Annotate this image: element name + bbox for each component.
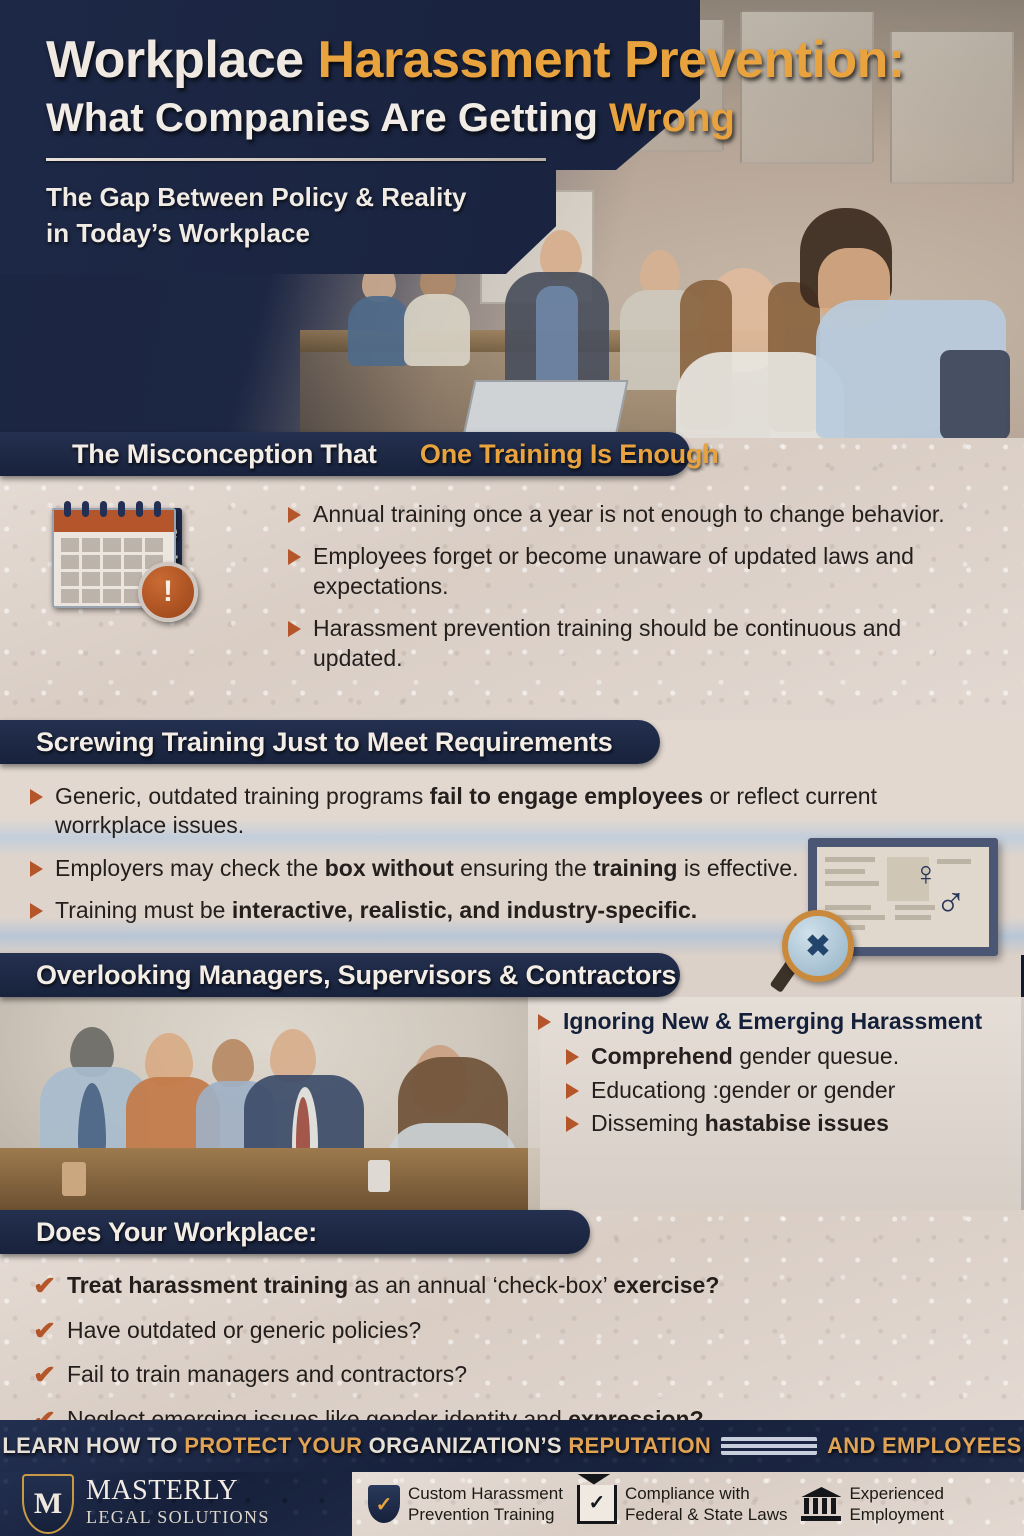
courthouse-icon (801, 1487, 841, 1521)
badge-line1: Compliance with (625, 1483, 788, 1504)
section2-heading-ribbon: Screwing Training Just to Meet Requireme… (0, 720, 660, 764)
monogram-letter: M (34, 1487, 62, 1521)
arrow-bullet-icon (30, 861, 43, 877)
title2-part-amber: Wrong (609, 96, 735, 140)
list-item: Annual training once a year is not enoug… (288, 500, 978, 529)
hero-subtitle-line2: in Today’s Workplace (46, 218, 310, 249)
bullet-text: Comprehend gender quesue. (591, 1042, 899, 1071)
section3-heading: Overlooking Managers, Supervisors & Cont… (0, 960, 676, 991)
cta-seg2: PROTECT YOUR (184, 1433, 368, 1458)
cta-text: LEARN HOW TO PROTECT YOUR ORGANIZATION’S… (2, 1433, 711, 1459)
bullet-text: Disseming hastabise issues (591, 1109, 889, 1138)
check-icon: ✔ (33, 1274, 56, 1299)
meeting-photo (0, 997, 540, 1210)
section-does-your-workplace: Does Your Workplace: ✔ Treat harassment … (0, 1210, 1024, 1420)
list-item: Ignoring New & Emerging Harassment (538, 1007, 1018, 1036)
bullet-text: Employees forget or become unaware of up… (313, 542, 978, 601)
bullet-text: Harassment prevention training should be… (313, 614, 978, 673)
check-icon: ✔ (33, 1319, 56, 1344)
arrow-bullet-icon (288, 549, 301, 565)
arrow-bullet-icon (566, 1116, 579, 1132)
arrow-bullet-icon (30, 903, 43, 919)
badge-text: Custom Harassment Prevention Training (408, 1483, 563, 1526)
section2-heading: Screwing Training Just to Meet Requireme… (0, 727, 613, 758)
bullet-text: Generic, outdated training programs fail… (55, 782, 990, 841)
shield-monogram-icon: M (22, 1474, 74, 1534)
badge-line2: Federal & State Laws (625, 1504, 788, 1525)
shield-check-icon: ✓ (368, 1485, 400, 1523)
list-item: Employees forget or become unaware of up… (288, 542, 978, 601)
cta-band: LEARN HOW TO PROTECT YOUR ORGANIZATION’S… (0, 1420, 1024, 1472)
clipboard-check-icon: ✓ (577, 1485, 617, 1524)
bullet-text: Annual training once a year is not enoug… (313, 500, 945, 529)
title-divider-rule (46, 158, 546, 161)
section1-bullet-list: Annual training once a year is not enoug… (288, 500, 978, 686)
footer-badges: ✓ Custom Harassment Prevention Training … (352, 1472, 1024, 1536)
title-part-white: Workplace (46, 31, 317, 89)
badge-custom-training: ✓ Custom Harassment Prevention Training (368, 1483, 563, 1526)
check-icon: ✔ (33, 1363, 56, 1388)
brand-name-line1: MASTERLY (86, 1477, 270, 1505)
checklist-text: Treat harassment training as an annual ‘… (67, 1272, 719, 1300)
badge-text: Compliance with Federal & State Laws (625, 1483, 788, 1526)
badge-text: Experienced Employment (849, 1483, 944, 1526)
badge-line1: Custom Harassment (408, 1483, 563, 1504)
arrow-bullet-icon (538, 1014, 551, 1030)
section-overlooking-managers: Overlooking Managers, Supervisors & Cont… (0, 955, 1024, 1210)
ledger-lines-divider-icon (721, 1437, 817, 1455)
checklist-text: Have outdated or generic policies? (67, 1317, 421, 1345)
section4-heading-ribbon: Does Your Workplace: (0, 1210, 590, 1254)
brand-name-line2: LEGAL SOLUTIONS (86, 1505, 270, 1530)
title-part-amber: Harassment Prevention: (317, 31, 904, 89)
cta-seg1: LEARN HOW TO (2, 1433, 184, 1458)
arrow-bullet-icon (566, 1083, 579, 1099)
list-item: ✔ Fail to train managers and contractors… (34, 1361, 994, 1389)
page-title-line1: Workplace Harassment Prevention: (46, 34, 905, 86)
footer: M MASTERLY LEGAL SOLUTIONS ✓ Custom Hara… (0, 1472, 1024, 1536)
bullet-text: Employers may check the box without ensu… (55, 854, 799, 883)
section1-heading-ribbon: The Misconception That One Training Is E… (0, 432, 690, 476)
cta-seg4: REPUTATION (568, 1433, 711, 1458)
arrow-bullet-icon (288, 507, 301, 523)
title2-part-white: What Companies Are Getting (46, 96, 609, 140)
checklist-text: Fail to train managers and contractors? (67, 1361, 467, 1389)
bullet-text: Ignoring New & Emerging Harassment (563, 1007, 982, 1036)
arrow-bullet-icon (566, 1049, 579, 1065)
bullet-text: Training must be interactive, realistic,… (55, 896, 697, 925)
list-item: Harassment prevention training should be… (288, 614, 978, 673)
section1-heading-amber: One Training Is Enough (384, 439, 719, 469)
list-item: Generic, outdated training programs fail… (30, 782, 990, 841)
section1-heading-white: The Misconception That (36, 439, 384, 469)
bullet-text: Educationg :gender or gender (591, 1076, 895, 1105)
cta-seg5: AND EMPLOYEES (827, 1433, 1022, 1458)
list-item: ✔ Treat harassment training as an annual… (34, 1272, 994, 1300)
list-item: Comprehend gender quesue. (566, 1042, 1018, 1071)
arrow-bullet-icon (30, 789, 43, 805)
infographic-poster: Workplace Harassment Prevention: What Co… (0, 0, 1024, 1536)
hero-subtitle-line1: The Gap Between Policy & Reality (46, 182, 466, 213)
badge-line2: Employment (849, 1504, 944, 1525)
mars-symbol-icon: ♂ (935, 877, 967, 925)
hero-section: Workplace Harassment Prevention: What Co… (0, 0, 1024, 438)
calendar-icon: ! (52, 500, 232, 612)
badge-experienced-attorneys: Experienced Employment (801, 1483, 944, 1526)
page-title-line2: What Companies Are Getting Wrong (46, 98, 735, 138)
section3-bullet-list: Ignoring New & Emerging Harassment Compr… (538, 1007, 1018, 1152)
cta-text-tail: AND EMPLOYEES (827, 1433, 1022, 1459)
badge-compliance: ✓ Compliance with Federal & State Laws (577, 1483, 788, 1526)
arrow-bullet-icon (288, 621, 301, 637)
section3-heading-ribbon: Overlooking Managers, Supervisors & Cont… (0, 953, 680, 997)
brand-logo[interactable]: M MASTERLY LEGAL SOLUTIONS (0, 1472, 352, 1536)
alert-badge-icon: ! (138, 562, 198, 622)
section1-heading: The Misconception That One Training Is E… (0, 439, 719, 470)
list-item: ✔ Have outdated or generic policies? (34, 1317, 994, 1345)
section4-heading: Does Your Workplace: (0, 1217, 317, 1248)
list-item: Disseming hastabise issues (566, 1109, 1018, 1138)
list-item: Educationg :gender or gender (566, 1076, 1018, 1105)
badge-line1: Experienced (849, 1483, 944, 1504)
badge-line2: Prevention Training (408, 1504, 563, 1525)
cta-seg3: ORGANIZATION’S (369, 1433, 569, 1458)
